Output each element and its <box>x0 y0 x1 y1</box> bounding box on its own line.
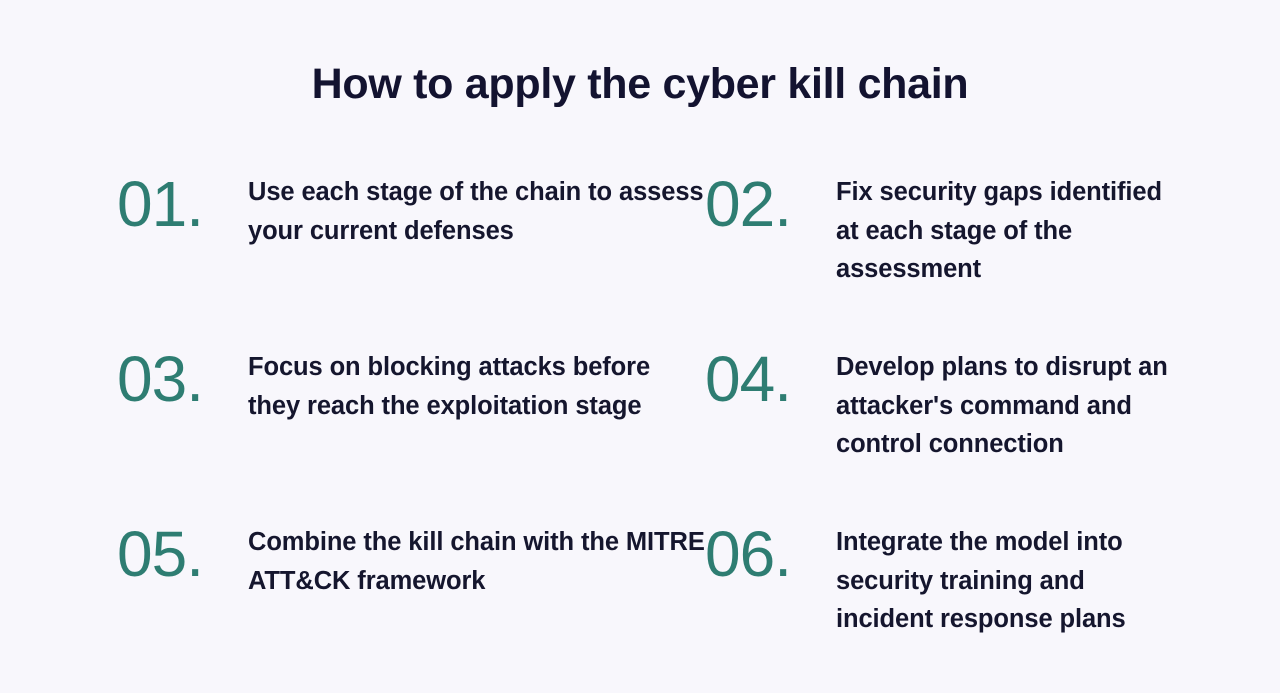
step-item-02: 02. Fix security gaps identified at each… <box>705 168 1169 343</box>
step-text-02: Fix security gaps identified at each sta… <box>836 168 1169 289</box>
step-item-05: 05. Combine the kill chain with the MITR… <box>117 518 705 693</box>
step-number-03: 03. <box>117 345 248 413</box>
step-number-04: 04. <box>705 345 836 413</box>
step-item-04: 04. Develop plans to disrupt an attacker… <box>705 343 1169 518</box>
steps-grid: 01. Use each stage of the chain to asses… <box>117 168 1169 693</box>
step-text-05: Combine the kill chain with the MITRE AT… <box>248 518 705 600</box>
step-number-01: 01. <box>117 170 248 238</box>
infographic-canvas: How to apply the cyber kill chain 01. Us… <box>0 0 1280 692</box>
step-number-02: 02. <box>705 170 836 238</box>
step-text-01: Use each stage of the chain to assess yo… <box>248 168 705 250</box>
page-title: How to apply the cyber kill chain <box>0 58 1280 110</box>
step-item-01: 01. Use each stage of the chain to asses… <box>117 168 705 343</box>
step-text-04: Develop plans to disrupt an attacker's c… <box>836 343 1169 464</box>
step-text-03: Focus on blocking attacks before they re… <box>248 343 705 425</box>
step-item-06: 06. Integrate the model into security tr… <box>705 518 1169 693</box>
step-text-06: Integrate the model into security traini… <box>836 518 1169 639</box>
step-item-03: 03. Focus on blocking attacks before the… <box>117 343 705 518</box>
step-number-06: 06. <box>705 520 836 588</box>
step-number-05: 05. <box>117 520 248 588</box>
